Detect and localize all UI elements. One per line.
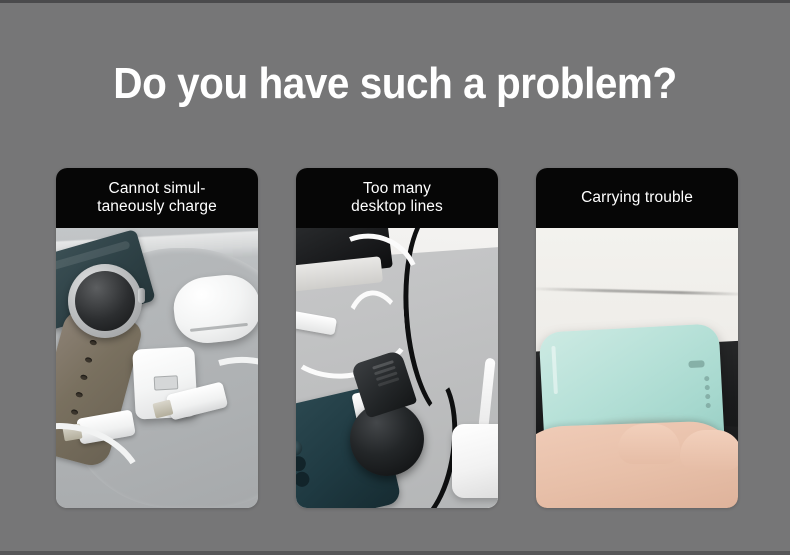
card-title: Carrying trouble [575, 189, 699, 207]
card-title: Cannot simul- taneously charge [91, 180, 223, 216]
strap-hole [85, 357, 93, 364]
problem-card-cannot-simultaneously-charge[interactable]: Cannot simul- taneously charge [56, 168, 258, 508]
power-bank-port-shape [688, 360, 704, 368]
power-bank-seam-shape [551, 346, 558, 394]
usb-port-shape [154, 375, 179, 390]
wall-seam-shape [536, 287, 738, 296]
strap-hole [89, 339, 97, 346]
round-adapter-shape [350, 402, 424, 476]
bottom-edge-band [0, 551, 790, 555]
strap-hole [71, 409, 79, 416]
top-edge-band [0, 0, 790, 3]
promo-banner: Do you have such a problem? Cannot simul… [0, 0, 790, 555]
card-photo-charging-accessories [56, 228, 258, 508]
card-title: Too many desktop lines [345, 180, 449, 216]
smartwatch-shape [68, 264, 142, 338]
strap-hole [75, 391, 83, 398]
camera-lens-shape [296, 439, 304, 457]
card-photo-carrying-power-bank [536, 228, 738, 508]
card-header: Cannot simul- taneously charge [56, 168, 258, 228]
card-photo-tangled-cables [296, 228, 498, 508]
power-bank-indicator-shape [704, 376, 709, 381]
page-title: Do you have such a problem? [32, 58, 759, 110]
strap-hole [80, 374, 88, 381]
finger-shape [680, 430, 738, 470]
problem-card-carrying-trouble[interactable]: Carrying trouble [536, 168, 738, 508]
card-header: Carrying trouble [536, 168, 738, 228]
card-header: Too many desktop lines [296, 168, 498, 228]
problem-card-too-many-desktop-lines[interactable]: Too many desktop lines [296, 168, 498, 508]
white-plug-shape [452, 424, 498, 498]
problem-card-list: Cannot simul- taneously charge [56, 168, 738, 508]
finger-shape [618, 424, 680, 464]
